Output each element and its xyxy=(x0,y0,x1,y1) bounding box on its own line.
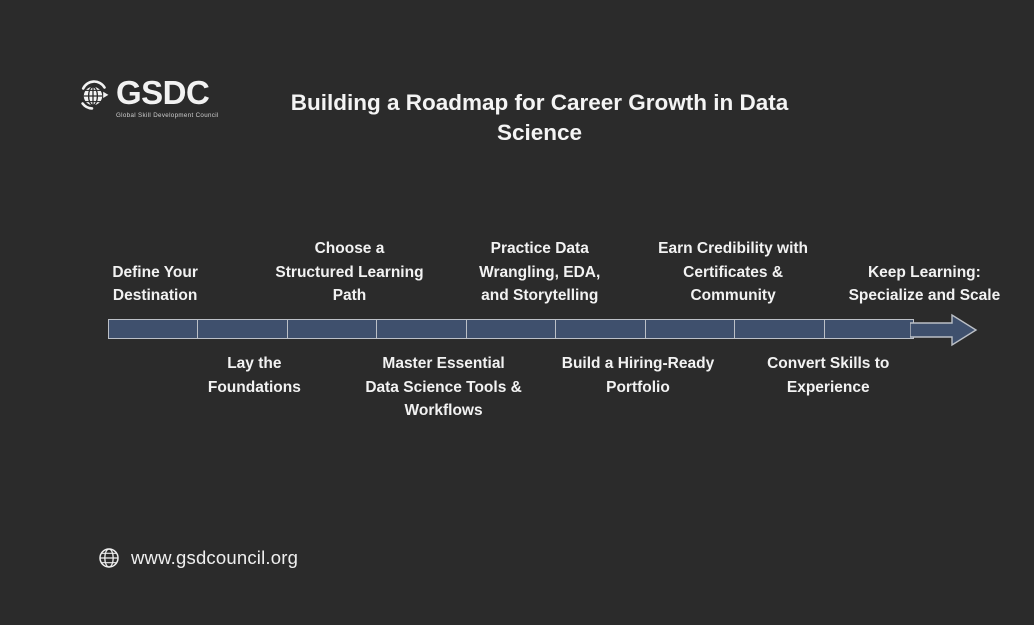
timeline-step-label-bottom-4: Convert Skills to Experience xyxy=(750,352,906,399)
timeline-segment xyxy=(556,320,645,338)
footer: www.gsdcouncil.org xyxy=(98,547,298,569)
timeline-step-label-bottom-3: Build a Hiring-Ready Portfolio xyxy=(560,352,716,399)
globe-icon xyxy=(98,547,120,569)
timeline-bar xyxy=(108,319,914,339)
slide-canvas: GSDC Global Skill Development Council Bu… xyxy=(0,0,1034,625)
timeline-arrow xyxy=(108,317,976,343)
timeline-segment xyxy=(825,320,913,338)
timeline-step-label-top-3: Practice Data Wrangling, EDA, and Storyt… xyxy=(464,237,616,308)
logo-text: GSDC Global Skill Development Council xyxy=(116,76,219,119)
logo-tagline: Global Skill Development Council xyxy=(116,112,219,119)
timeline-step-label-bottom-1: Lay the Foundations xyxy=(179,352,329,399)
brand-logo: GSDC Global Skill Development Council xyxy=(78,76,219,119)
timeline-segment xyxy=(198,320,287,338)
timeline-segment xyxy=(735,320,824,338)
timeline-segment xyxy=(377,320,466,338)
footer-website-url[interactable]: www.gsdcouncil.org xyxy=(131,547,298,569)
globe-arc-icon xyxy=(78,78,112,114)
timeline-step-label-bottom-2: Master Essential Data Science Tools & Wo… xyxy=(364,352,524,423)
timeline-segment xyxy=(288,320,377,338)
page-title: Building a Roadmap for Career Growth in … xyxy=(263,88,816,148)
timeline-labels-below: Lay the FoundationsMaster Essential Data… xyxy=(0,352,1034,462)
timeline-step-label-top-2: Choose a Structured Learning Path xyxy=(274,237,424,308)
timeline-step-label-top-5: Keep Learning: Specialize and Scale xyxy=(846,261,1002,308)
timeline-step-label-top-1: Define Your Destination xyxy=(80,261,230,308)
timeline-segment xyxy=(646,320,735,338)
timeline-segment xyxy=(109,320,198,338)
arrow-head-icon xyxy=(910,313,980,347)
timeline-labels-above: Define Your DestinationChoose a Structur… xyxy=(0,196,1034,308)
logo-wordmark: GSDC xyxy=(116,76,219,109)
timeline-segment xyxy=(467,320,556,338)
timeline-step-label-top-4: Earn Credibility with Certificates & Com… xyxy=(656,237,810,308)
